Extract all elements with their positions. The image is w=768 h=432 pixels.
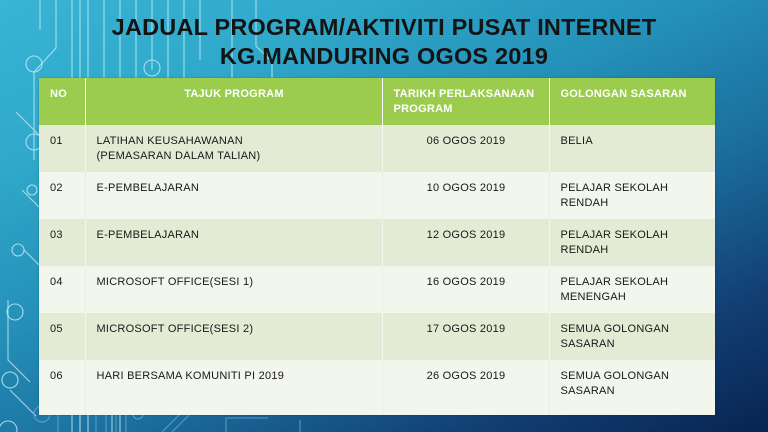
table-row: 02 E-PEMBELAJARAN 10 OGOS 2019 PELAJAR S… (39, 172, 715, 219)
cell-date: 06 OGOS 2019 (382, 125, 549, 172)
cell-no: 03 (39, 219, 85, 266)
cell-target-line2: RENDAH (561, 243, 706, 258)
cell-target-line2: SASARAN (561, 337, 706, 352)
cell-target: PELAJAR SEKOLAH RENDAH (549, 172, 715, 219)
slide-canvas: JADUAL PROGRAM/AKTIVITI PUSAT INTERNET K… (0, 0, 768, 432)
cell-target-line1: SEMUA GOLONGAN (561, 369, 706, 384)
column-header-program: TAJUK PROGRAM (85, 78, 382, 125)
cell-date: 10 OGOS 2019 (382, 172, 549, 219)
cell-date: 17 OGOS 2019 (382, 313, 549, 360)
cell-program-line1: E-PEMBELAJARAN (97, 181, 372, 196)
table-body: 01 LATIHAN KEUSAHAWANAN (PEMASARAN DALAM… (39, 125, 715, 415)
column-header-date-line1: TARIKH PERLAKSANAAN (394, 87, 539, 102)
cell-target-line1: SEMUA GOLONGAN (561, 322, 706, 337)
cell-program-line2: (PEMASARAN DALAM TALIAN) (97, 149, 372, 164)
cell-target-line1: BELIA (561, 134, 706, 149)
cell-program-line1: E-PEMBELAJARAN (97, 228, 372, 243)
table-row: 03 E-PEMBELAJARAN 12 OGOS 2019 PELAJAR S… (39, 219, 715, 266)
cell-target: PELAJAR SEKOLAH RENDAH (549, 219, 715, 266)
cell-program: MICROSOFT OFFICE(SESI 2) (85, 313, 382, 360)
cell-target: PELAJAR SEKOLAH MENENGAH (549, 266, 715, 313)
cell-no: 02 (39, 172, 85, 219)
cell-no: 05 (39, 313, 85, 360)
cell-program-line1: HARI BERSAMA KOMUNITI PI 2019 (97, 369, 372, 384)
cell-target-line1: PELAJAR SEKOLAH (561, 275, 706, 290)
cell-program: MICROSOFT OFFICE(SESI 1) (85, 266, 382, 313)
slide-title: JADUAL PROGRAM/AKTIVITI PUSAT INTERNET K… (0, 13, 768, 71)
cell-program-line1: MICROSOFT OFFICE(SESI 1) (97, 275, 372, 290)
table-row: 06 HARI BERSAMA KOMUNITI PI 2019 26 OGOS… (39, 360, 715, 415)
cell-target-line1: PELAJAR SEKOLAH (561, 228, 706, 243)
table-row: 05 MICROSOFT OFFICE(SESI 2) 17 OGOS 2019… (39, 313, 715, 360)
column-header-target: GOLONGAN SASARAN (549, 78, 715, 125)
cell-program-line1: MICROSOFT OFFICE(SESI 2) (97, 322, 372, 337)
table-row: 04 MICROSOFT OFFICE(SESI 1) 16 OGOS 2019… (39, 266, 715, 313)
cell-target-line2: RENDAH (561, 196, 706, 211)
cell-target-line2: SASARAN (561, 384, 706, 399)
cell-program: LATIHAN KEUSAHAWANAN (PEMASARAN DALAM TA… (85, 125, 382, 172)
title-line-2: KG.MANDURING OGOS 2019 (0, 42, 768, 71)
cell-target: SEMUA GOLONGAN SASARAN (549, 360, 715, 415)
column-header-date: TARIKH PERLAKSANAAN PROGRAM (382, 78, 549, 125)
cell-target: BELIA (549, 125, 715, 172)
cell-target-line1: PELAJAR SEKOLAH (561, 181, 706, 196)
schedule-table-container: NO TAJUK PROGRAM TARIKH PERLAKSANAAN PRO… (39, 78, 715, 415)
cell-date: 26 OGOS 2019 (382, 360, 549, 415)
cell-program: HARI BERSAMA KOMUNITI PI 2019 (85, 360, 382, 415)
cell-program: E-PEMBELAJARAN (85, 172, 382, 219)
cell-date: 12 OGOS 2019 (382, 219, 549, 266)
table-header: NO TAJUK PROGRAM TARIKH PERLAKSANAAN PRO… (39, 78, 715, 125)
cell-date: 16 OGOS 2019 (382, 266, 549, 313)
table-row: 01 LATIHAN KEUSAHAWANAN (PEMASARAN DALAM… (39, 125, 715, 172)
cell-no: 01 (39, 125, 85, 172)
column-header-date-line2: PROGRAM (394, 102, 539, 117)
cell-program-line1: LATIHAN KEUSAHAWANAN (97, 134, 372, 149)
table-header-row: NO TAJUK PROGRAM TARIKH PERLAKSANAAN PRO… (39, 78, 715, 125)
cell-no: 04 (39, 266, 85, 313)
cell-no: 06 (39, 360, 85, 415)
title-line-1: JADUAL PROGRAM/AKTIVITI PUSAT INTERNET (0, 13, 768, 42)
schedule-table: NO TAJUK PROGRAM TARIKH PERLAKSANAAN PRO… (39, 78, 715, 415)
cell-target-line2: MENENGAH (561, 290, 706, 305)
column-header-no: NO (39, 78, 85, 125)
cell-program: E-PEMBELAJARAN (85, 219, 382, 266)
cell-target: SEMUA GOLONGAN SASARAN (549, 313, 715, 360)
